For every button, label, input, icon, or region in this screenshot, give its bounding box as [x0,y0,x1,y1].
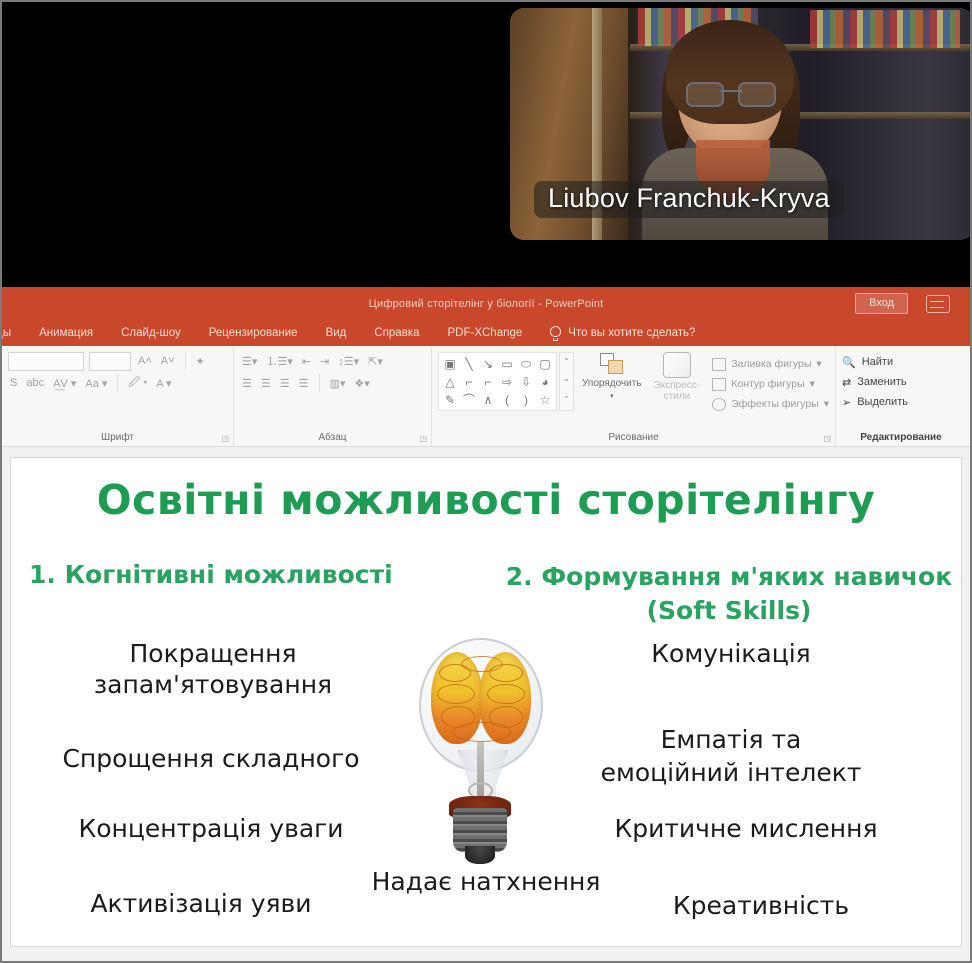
find-label: Найти [862,356,893,368]
numbering-button[interactable]: ⒈☰▾ [264,352,294,370]
document-title: Цифровий сторітелінг у біології - PowerP… [369,298,604,310]
elbow-connector-icon[interactable]: ⌐ [460,373,478,390]
quick-styles-label: Экспресс-стили [650,380,705,402]
shape-outline-icon [712,378,726,391]
search-icon: 🔍 [842,356,856,369]
columns-button[interactable]: ▥▾ [328,376,348,391]
text-shadow-button[interactable]: abc [24,376,46,390]
increase-font-size-button[interactable]: A˄ [136,354,154,368]
left-brace-shape-icon[interactable]: ( [498,391,516,408]
character-spacing-button[interactable]: A͟V ▾ [51,376,78,391]
paragraph-row-1: ☰▾ ⒈☰▾ ⇤ ⇥ ↕☰▾ ⇱▾ [240,350,425,372]
font-size-combo[interactable] [89,352,131,371]
arc-shape-icon[interactable]: ∧ [479,391,497,408]
gallery-scroll-down-icon[interactable]: ⌄ [560,370,573,387]
line-spacing-button[interactable]: ↕☰▾ [336,354,361,369]
select-button[interactable]: ➢ Выделить [842,392,960,412]
ribbon-display-options-icon[interactable] [926,295,950,313]
justify-button[interactable]: ☰ [297,376,311,391]
powerpoint-title-bar: Цифровий сторітелінг у біології - PowerP… [2,287,970,320]
slide-item-concentration[interactable]: Концентрація уваги [51,813,371,844]
arrange-button[interactable]: Упорядочить ▾ [582,352,642,402]
quick-styles-button[interactable]: Экспресс-стили [650,352,705,402]
slide-item-imagination[interactable]: Активізація уяви [51,888,351,919]
rectangle-shape-icon[interactable]: ▭ [498,355,516,372]
shape-effects-chevron-down-icon[interactable]: ▾ [824,398,829,410]
shape-fill-label: Заливка фигуры [731,358,811,370]
slide-item-inspiration[interactable]: Надає натхнення [341,866,631,897]
shape-fill-icon [712,358,726,371]
paragraph-row-2: ☰ ☰ ☰ ☰ ▥▾ ❖▾ [240,372,425,394]
pie-shape-icon[interactable]: ◕ [536,373,554,390]
oval-shape-icon[interactable]: ⬭ [517,355,535,372]
tab-pdf-xchange[interactable]: PDF-XChange [434,324,537,342]
cursor-icon: ➢ [842,396,851,409]
lightbulb-brain-icon[interactable] [401,638,561,863]
brain-shape [431,652,531,744]
shape-effects-button[interactable]: Эффекты фигуры ▾ [712,394,829,414]
ribbon-group-editing: 🔍 Найти ⇄ Заменить ➢ Выделить Редактиров… [836,346,966,446]
textbox-shape-icon[interactable]: ▣ [441,355,459,372]
participant-video-tile[interactable]: Liubov Franchuk-Kryva [510,8,972,240]
select-label: Выделить [857,396,908,408]
quick-styles-icon [663,352,691,378]
decrease-indent-button[interactable]: ⇤ [300,354,313,369]
slide-heading-cognitive[interactable]: 1. Когнітивні можливості [29,560,393,589]
shapes-gallery[interactable]: ▣ ╲ ↘ ▭ ⬭ ▢ △ ⌐ ⌐ ⇨ ⇩ ◕ ✎ [438,352,557,411]
align-right-button[interactable]: ☰ [278,376,292,391]
ribbon-group-label-font: Шрифт [8,432,227,446]
tab-help[interactable]: Справка [360,324,433,342]
strikethrough-button[interactable]: S [8,376,19,390]
arrange-chevron-down-icon[interactable]: ▾ [610,391,614,402]
video-conference-stage: Liubov Franchuk-Kryva [2,2,972,287]
slide-title[interactable]: Освітні можливості сторітелінгу [11,476,961,524]
shape-effects-icon [712,398,726,411]
shape-fill-chevron-down-icon[interactable]: ▾ [816,358,821,370]
freeform-shape-icon[interactable]: ✎ [441,391,459,408]
align-left-button[interactable]: ☰ [240,376,254,391]
clear-formatting-icon[interactable]: ✦ [194,354,207,369]
gallery-scroll-up-icon[interactable]: ⌃ [560,353,573,370]
ribbon-group-label-editing: Редактирование [842,432,960,446]
slide-heading-soft-skills[interactable]: 2. Формування м'яких навичок (Soft Skill… [495,560,962,628]
lightbulb-icon [550,326,561,341]
ribbon-group-label-drawing: Рисование [438,432,829,446]
elbow-arrow-icon[interactable]: ⌐ [479,373,497,390]
drawing-dialog-launcher[interactable]: ◳ [823,434,831,443]
bullets-button[interactable]: ☰▾ [240,354,259,369]
arrange-icon [599,352,625,376]
arrow-shape-icon[interactable]: ↘ [479,355,497,372]
replace-icon: ⇄ [842,376,851,389]
slide-item-simplification[interactable]: Спрощення складного [31,743,391,774]
replace-button[interactable]: ⇄ Заменить [842,372,960,392]
font-row-2: S abc A͟V ▾ Aa ▾ 🖉 ▾ A ▾ [8,372,227,394]
sign-in-button[interactable]: Вход [855,293,908,314]
tell-me-placeholder: Что вы хотите сделать? [568,327,695,339]
tab-review[interactable]: Рецензирование [195,324,312,342]
shape-fill-button[interactable]: Заливка фигуры ▾ [712,354,829,374]
slide-item-memory[interactable]: Покращення запам'ятовування [63,638,363,700]
font-row-1: A˄ A˅ ✦ [8,350,227,372]
find-button[interactable]: 🔍 Найти [842,352,960,372]
font-dialog-launcher[interactable]: ◳ [221,434,229,443]
slide-item-creativity[interactable]: Креативність [611,890,911,921]
change-case-button[interactable]: Aa ▾ [83,376,109,391]
ribbon-tab-strip: оды Анимация Слайд-шоу Рецензирование Ви… [2,320,970,346]
shape-outline-chevron-down-icon[interactable]: ▾ [810,378,815,390]
books-row [810,10,960,48]
text-direction-button[interactable]: ⇱▾ [366,354,385,369]
ribbon-group-label-paragraph: Абзац [240,432,425,446]
slide-item-critical-thinking[interactable]: Критичне мислення [561,813,931,844]
gallery-more-icon[interactable]: ⌄ [560,387,573,404]
slide-item-empathy[interactable]: Емпатія та емоційний інтелект [531,723,931,789]
slide-item-communication[interactable]: Комунікація [541,638,921,669]
font-family-combo[interactable] [8,352,84,371]
ribbon-group-drawing: ▣ ╲ ↘ ▭ ⬭ ▢ △ ⌐ ⌐ ⇨ ⇩ ◕ ✎ [432,346,836,446]
right-arrow-shape-icon[interactable]: ⇨ [498,373,516,390]
tab-slideshow[interactable]: Слайд-шоу [107,324,195,342]
triangle-shape-icon[interactable]: △ [441,373,459,390]
right-brace-shape-icon[interactable]: ) [517,391,535,408]
increase-indent-button[interactable]: ⇥ [318,354,331,369]
text-highlight-color-button[interactable]: 🖉 ▾ [126,373,149,394]
rounded-rectangle-shape-icon[interactable]: ▢ [536,355,554,372]
paragraph-dialog-launcher[interactable]: ◳ [419,434,427,443]
align-center-button[interactable]: ☰ [259,376,273,391]
shapes-gallery-scrollbar[interactable]: ⌃ ⌄ ⌄ [559,352,574,411]
arrange-label: Упорядочить [582,378,642,389]
line-shape-icon[interactable]: ╲ [460,355,478,372]
shape-outline-button[interactable]: Контур фигуры ▾ [712,374,829,394]
shape-outline-label: Контур фигуры [731,378,804,390]
decrease-font-size-button[interactable]: A˅ [159,354,177,368]
bulb-contact-tip [465,846,495,864]
ribbon-group-paragraph: ☰▾ ⒈☰▾ ⇤ ⇥ ↕☰▾ ⇱▾ ☰ ☰ ☰ ☰ ▥▾ ❖▾ [234,346,432,446]
screen-root: Liubov Franchuk-Kryva Цифровий сторітелі… [0,0,972,963]
curve-shape-icon[interactable]: ⌒ [460,391,478,408]
tab-animations[interactable]: Анимация [25,324,107,342]
ribbon: A˄ A˅ ✦ S abc A͟V ▾ Aa ▾ 🖉 ▾ A ▾ [2,346,970,447]
tab-view[interactable]: Вид [312,324,361,342]
slide-canvas[interactable]: Освітні можливості сторітелінгу 1. Когні… [10,457,962,947]
font-color-button[interactable]: A ▾ [154,376,173,391]
convert-to-smartart-button[interactable]: ❖▾ [352,376,371,391]
participant-name-label: Liubov Franchuk-Kryva [534,181,844,218]
shape-effects-label: Эффекты фигуры [731,398,819,410]
ribbon-group-font: A˄ A˅ ✦ S abc A͟V ▾ Aa ▾ 🖉 ▾ A ▾ [2,346,234,446]
star-shape-icon[interactable]: ☆ [536,391,554,408]
person-hair [666,20,794,124]
glasses-icon [686,82,776,104]
tell-me-box[interactable]: Что вы хотите сделать? [536,326,695,341]
replace-label: Заменить [857,376,906,388]
down-arrow-shape-icon[interactable]: ⇩ [517,373,535,390]
tab-transitions[interactable]: оды [2,324,25,342]
